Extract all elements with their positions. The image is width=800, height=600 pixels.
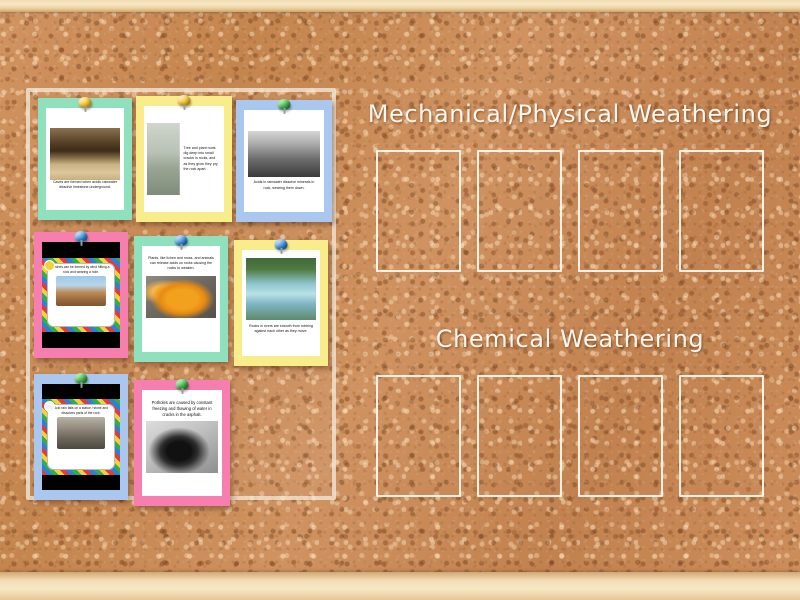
pushpin-icon[interactable] (75, 231, 88, 246)
board-frame-bottom (0, 572, 800, 600)
pushpin-icon[interactable] (79, 97, 92, 112)
statues-photo (248, 131, 320, 177)
cave-photo (50, 128, 120, 180)
pushpin-icon[interactable] (178, 95, 191, 110)
card-caves[interactable]: Caves are formed when acidic rainwater d… (38, 98, 132, 220)
heading-chemical-weathering: Chemical Weathering (355, 325, 785, 353)
weathered-statue-photo (57, 417, 106, 449)
arch-photo (56, 276, 106, 306)
card-caption: Acid rain falls on a statue / stone and … (49, 406, 113, 416)
card-caption: Tree and plant roots dig deep into small… (182, 146, 221, 172)
card-rocks-rivers[interactable]: Rocks in rivers are smooth from rubbing … (234, 240, 328, 366)
card-tree-roots[interactable]: Tree and plant roots dig deep into small… (136, 96, 232, 222)
card-plants-lichen[interactable]: Plants, like lichen and moss, and animal… (134, 236, 228, 362)
card-caption: Rocks in rivers are smooth from rubbing … (246, 324, 316, 334)
pushpin-icon[interactable] (175, 235, 188, 250)
chem-slot-1[interactable] (376, 375, 461, 497)
card-caption: Arches can be formed by wind hitting a r… (49, 265, 113, 275)
mech-slot-4[interactable] (679, 150, 764, 272)
lichen-photo (146, 276, 216, 318)
tree-photo (147, 123, 180, 195)
pushpin-icon[interactable] (176, 379, 189, 394)
river-photo (246, 258, 316, 320)
mech-slot-2[interactable] (477, 150, 562, 272)
board-frame-top (0, 0, 800, 12)
chem-slot-2[interactable] (477, 375, 562, 497)
corkboard-activity: Caves are formed when acidic rainwater d… (0, 0, 800, 600)
card-acids-rainwater[interactable]: Acids in rainwater dissolve minerals in … (236, 100, 332, 222)
card-tray: Caves are formed when acidic rainwater d… (26, 88, 336, 500)
heading-mechanical-weathering: Mechanical/Physical Weathering (355, 100, 785, 128)
card-potholes[interactable]: Potholes are caused by constant freezing… (134, 380, 230, 506)
chem-slot-3[interactable] (578, 375, 663, 497)
mech-slot-3[interactable] (578, 150, 663, 272)
mech-slot-1[interactable] (376, 150, 461, 272)
card-acid-rain-statue[interactable]: Acid rain falls on a statue / stone and … (34, 374, 128, 500)
card-caption: Caves are formed when acidic rainwater d… (50, 180, 120, 190)
card-caption: Plants, like lichen and moss, and animal… (146, 256, 216, 272)
pothole-photo (146, 421, 218, 473)
pushpin-icon[interactable] (75, 373, 88, 388)
card-caption: Potholes are caused by constant freezing… (146, 400, 218, 418)
pushpin-icon[interactable] (275, 239, 288, 254)
card-arches[interactable]: Arches can be formed by wind hitting a r… (34, 232, 128, 358)
pushpin-icon[interactable] (278, 99, 291, 114)
card-caption: Acids in rainwater dissolve minerals in … (248, 180, 320, 190)
chem-slot-4[interactable] (679, 375, 764, 497)
